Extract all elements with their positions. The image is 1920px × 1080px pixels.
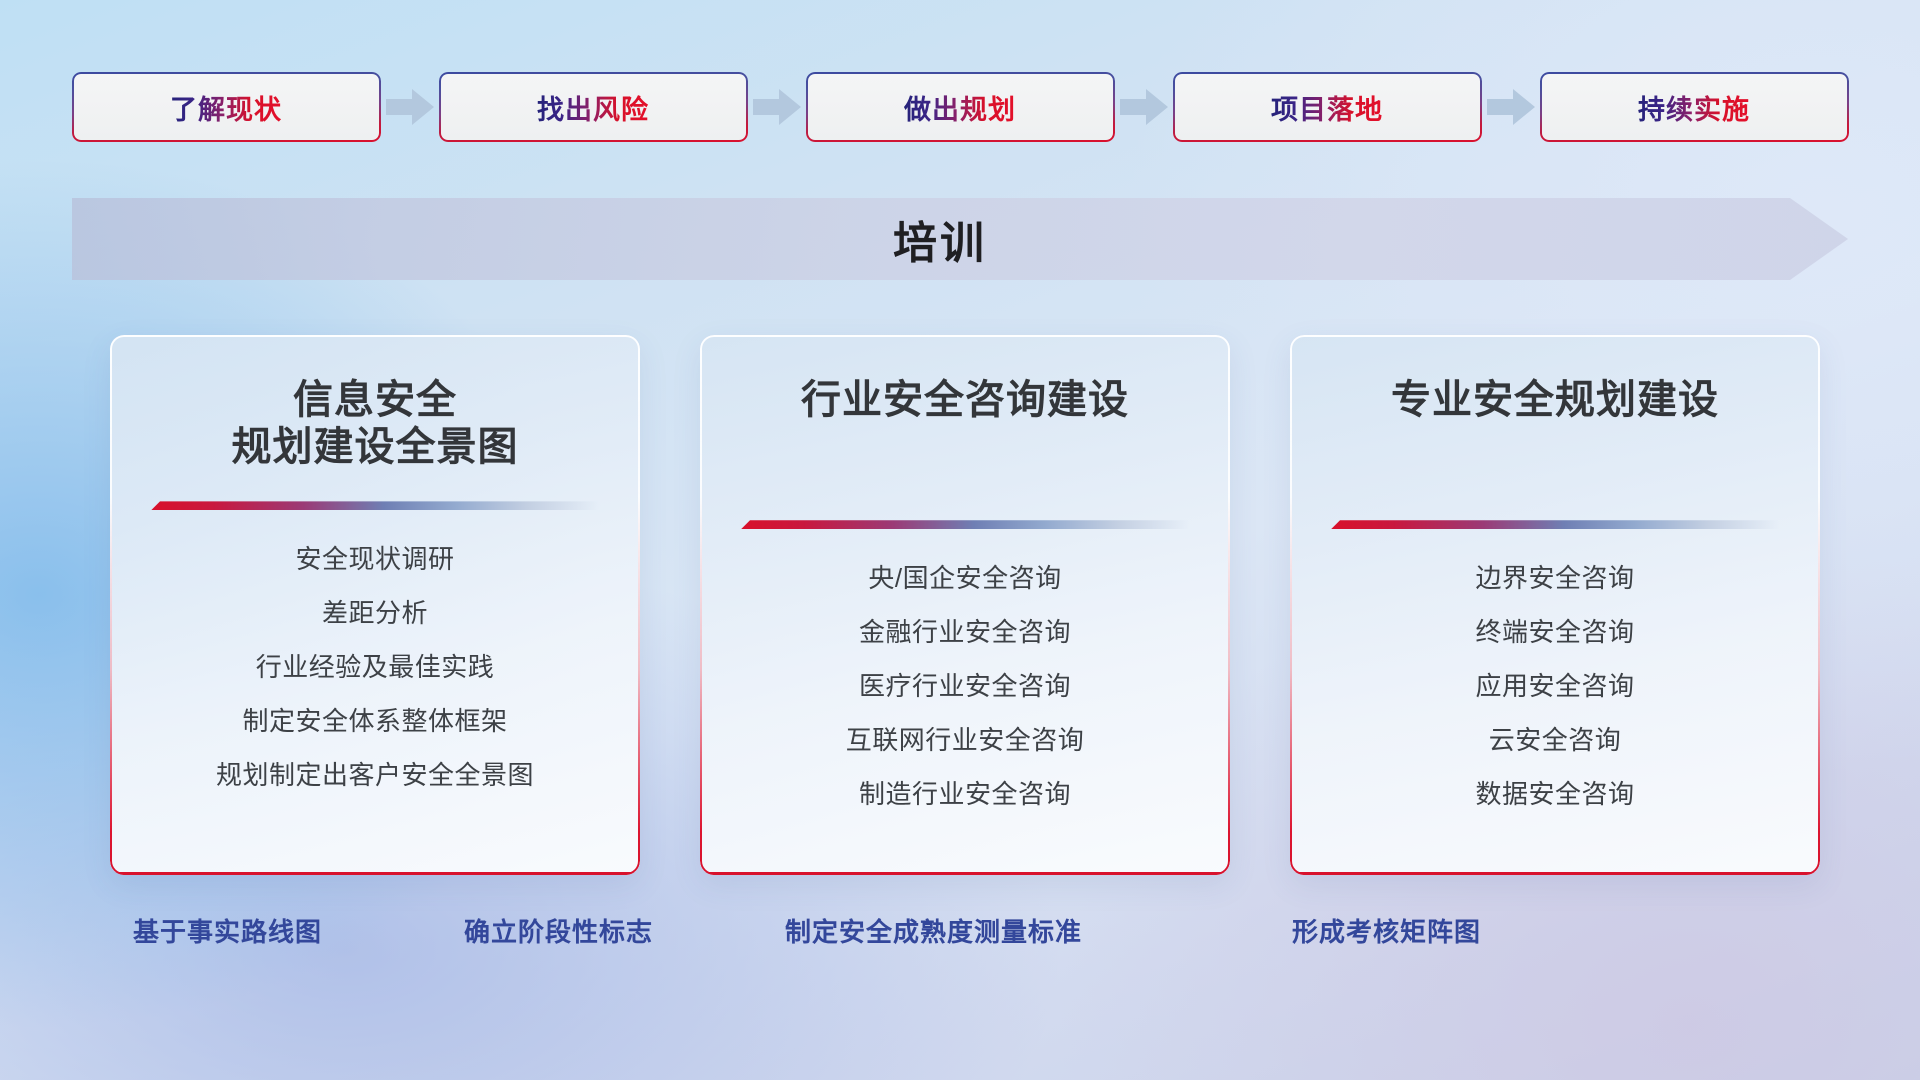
list-item: 终端安全咨询 [1290,619,1820,645]
list-item: 行业经验及最佳实践 [110,654,640,680]
card-divider [151,501,599,510]
card-professional-security-planning[interactable]: 专业安全规划建设 边界安全咨询 终端安全咨询 应用安全咨询 云安全咨询 数据安全… [1290,335,1820,875]
card-divider-wrap [1290,520,1820,529]
step-box-5[interactable]: 持续实施 [1542,74,1847,140]
right-arrow-icon [379,87,441,127]
card-title: 信息安全 规划建设全景图 [110,377,640,471]
list-item: 云安全咨询 [1290,727,1820,753]
card-row: 信息安全 规划建设全景图 安全现状调研 差距分析 行业经验及最佳实践 制定安全体… [110,335,1820,875]
step-box-4[interactable]: 项目落地 [1175,74,1480,140]
list-item: 边界安全咨询 [1290,565,1820,591]
card-item-list: 安全现状调研 差距分析 行业经验及最佳实践 制定安全体系整体框架 规划制定出客户… [110,546,640,788]
step-box-2[interactable]: 找出风险 [441,74,746,140]
step-box-3[interactable]: 做出规划 [808,74,1113,140]
list-item: 制定安全体系整体框架 [110,708,640,734]
step-label: 做出规划 [904,88,1016,127]
step-label: 找出风险 [537,88,649,127]
list-item: 互联网行业安全咨询 [700,727,1230,753]
right-arrow-icon [1113,87,1175,127]
footer-label-1: 基于事实路线图 [133,912,322,949]
footer-label-4: 形成考核矩阵图 [1292,912,1481,949]
step-label: 了解现状 [170,88,282,127]
step-label: 项目落地 [1271,88,1383,127]
card-industry-security-consulting[interactable]: 行业安全咨询建设 央/国企安全咨询 金融行业安全咨询 医疗行业安全咨询 互联网行… [700,335,1230,875]
footer-label-2: 确立阶段性标志 [464,912,653,949]
banner-title: 培训 [72,198,1848,280]
footer-label-3: 制定安全成熟度测量标准 [785,912,1082,949]
card-divider [741,520,1189,529]
card-item-list: 边界安全咨询 终端安全咨询 应用安全咨询 云安全咨询 数据安全咨询 [1290,565,1820,807]
list-item: 差距分析 [110,600,640,626]
right-arrow-icon [746,87,808,127]
list-item: 规划制定出客户安全全景图 [110,762,640,788]
card-divider [1331,520,1779,529]
card-item-list: 央/国企安全咨询 金融行业安全咨询 医疗行业安全咨询 互联网行业安全咨询 制造行… [700,565,1230,807]
footer-label-row: 基于事实路线图 确立阶段性标志 制定安全成熟度测量标准 形成考核矩阵图 [0,912,1920,962]
process-step-row: 了解现状 找出风险 做出规划 项目落地 持续实施 [0,72,1920,142]
list-item: 央/国企安全咨询 [700,565,1230,591]
list-item: 数据安全咨询 [1290,781,1820,807]
right-arrow-icon [1480,87,1542,127]
step-box-1[interactable]: 了解现状 [74,74,379,140]
list-item: 安全现状调研 [110,546,640,572]
card-title: 专业安全规划建设 [1290,377,1820,424]
list-item: 应用安全咨询 [1290,673,1820,699]
card-divider-wrap [110,501,640,510]
list-item: 金融行业安全咨询 [700,619,1230,645]
training-banner: 培训 [72,198,1848,280]
step-label: 持续实施 [1638,88,1750,127]
card-information-security-panorama[interactable]: 信息安全 规划建设全景图 安全现状调研 差距分析 行业经验及最佳实践 制定安全体… [110,335,640,875]
card-title: 行业安全咨询建设 [700,377,1230,424]
list-item: 制造行业安全咨询 [700,781,1230,807]
list-item: 医疗行业安全咨询 [700,673,1230,699]
card-divider-wrap [700,520,1230,529]
